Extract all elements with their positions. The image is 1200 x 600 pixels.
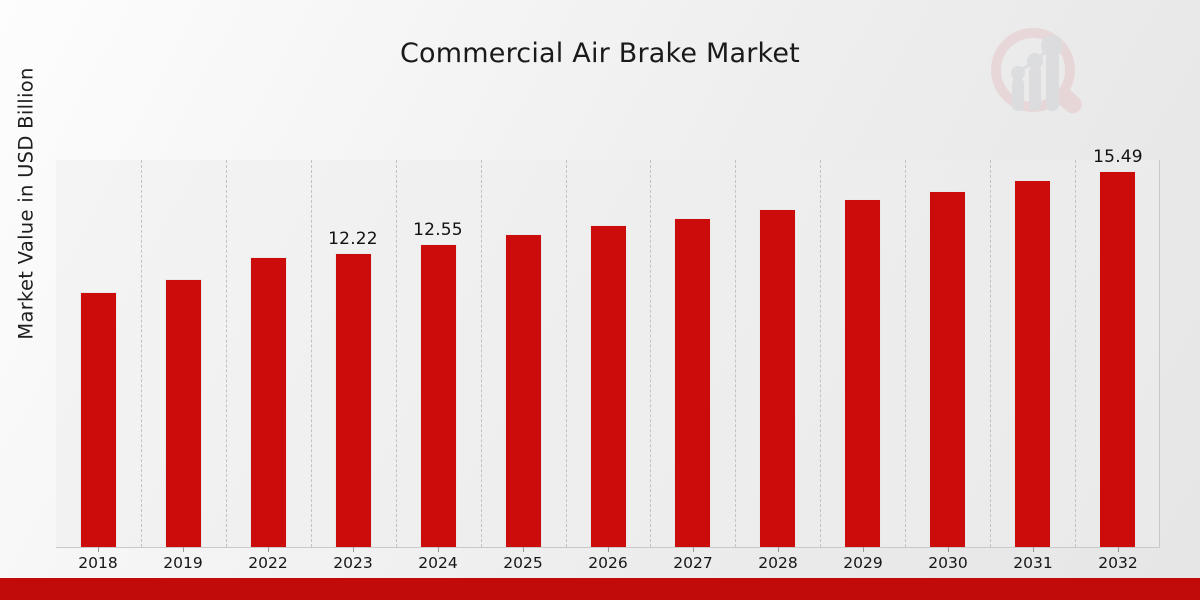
gridline xyxy=(905,160,906,547)
x-tick-mark-2030 xyxy=(948,547,949,552)
bar-2030[interactable] xyxy=(929,191,966,547)
gridline xyxy=(311,160,312,547)
x-tick-label-2019: 2019 xyxy=(143,554,223,572)
bar-2024[interactable] xyxy=(420,244,457,547)
gridline xyxy=(566,160,567,547)
x-tick-label-2022: 2022 xyxy=(228,554,308,572)
x-tick-label-2026: 2026 xyxy=(568,554,648,572)
bar-2028[interactable] xyxy=(759,209,796,547)
x-tick-label-2032: 2032 xyxy=(1078,554,1158,572)
plot-frame-right xyxy=(1159,160,1160,547)
x-tick-label-2018: 2018 xyxy=(58,554,138,572)
bar-2025[interactable] xyxy=(505,234,542,547)
x-tick-mark-2018 xyxy=(98,547,99,552)
plot-area: 12.2212.5515.49 xyxy=(56,160,1160,548)
bar-2032[interactable] xyxy=(1099,171,1136,547)
x-tick-label-2027: 2027 xyxy=(653,554,733,572)
x-tick-mark-2029 xyxy=(863,547,864,552)
x-tick-label-2025: 2025 xyxy=(483,554,563,572)
gridline xyxy=(820,160,821,547)
gridline xyxy=(650,160,651,547)
y-axis-title: Market Value in USD Billion xyxy=(15,14,38,394)
x-tick-mark-2024 xyxy=(438,547,439,552)
chart-page: Commercial Air Brake Market Market xyxy=(0,0,1200,600)
bar-value-label-2023: 12.22 xyxy=(313,229,393,249)
x-tick-mark-2022 xyxy=(268,547,269,552)
bar-value-label-2024: 12.55 xyxy=(398,220,478,240)
bar-2019[interactable] xyxy=(165,279,202,547)
gridline xyxy=(396,160,397,547)
x-tick-mark-2027 xyxy=(693,547,694,552)
x-tick-label-2029: 2029 xyxy=(823,554,903,572)
x-tick-label-2031: 2031 xyxy=(993,554,1073,572)
bar-2023[interactable] xyxy=(335,253,372,547)
x-tick-label-2030: 2030 xyxy=(908,554,988,572)
bar-2018[interactable] xyxy=(80,292,117,547)
x-tick-mark-2028 xyxy=(778,547,779,552)
gridline xyxy=(990,160,991,547)
bar-2029[interactable] xyxy=(844,199,881,547)
bar-2031[interactable] xyxy=(1014,180,1051,547)
gridline xyxy=(481,160,482,547)
footer-accent-bar xyxy=(0,578,1200,600)
market-research-magnifier-logo xyxy=(983,22,1088,127)
gridline xyxy=(226,160,227,547)
bar-value-label-2032: 15.49 xyxy=(1078,147,1158,167)
x-tick-mark-2026 xyxy=(608,547,609,552)
x-tick-mark-2032 xyxy=(1118,547,1119,552)
x-tick-label-2023: 2023 xyxy=(313,554,393,572)
x-tick-label-2028: 2028 xyxy=(738,554,818,572)
bar-2027[interactable] xyxy=(674,218,711,547)
gridline xyxy=(735,160,736,547)
x-tick-label-2024: 2024 xyxy=(398,554,478,572)
bar-2026[interactable] xyxy=(590,225,627,547)
x-axis: 2018201920222023202420252026202720282029… xyxy=(56,547,1160,577)
x-tick-mark-2025 xyxy=(523,547,524,552)
bar-2022[interactable] xyxy=(250,257,287,547)
x-tick-mark-2019 xyxy=(183,547,184,552)
gridline xyxy=(141,160,142,547)
x-tick-mark-2023 xyxy=(353,547,354,552)
x-tick-mark-2031 xyxy=(1033,547,1034,552)
gridline xyxy=(1075,160,1076,547)
